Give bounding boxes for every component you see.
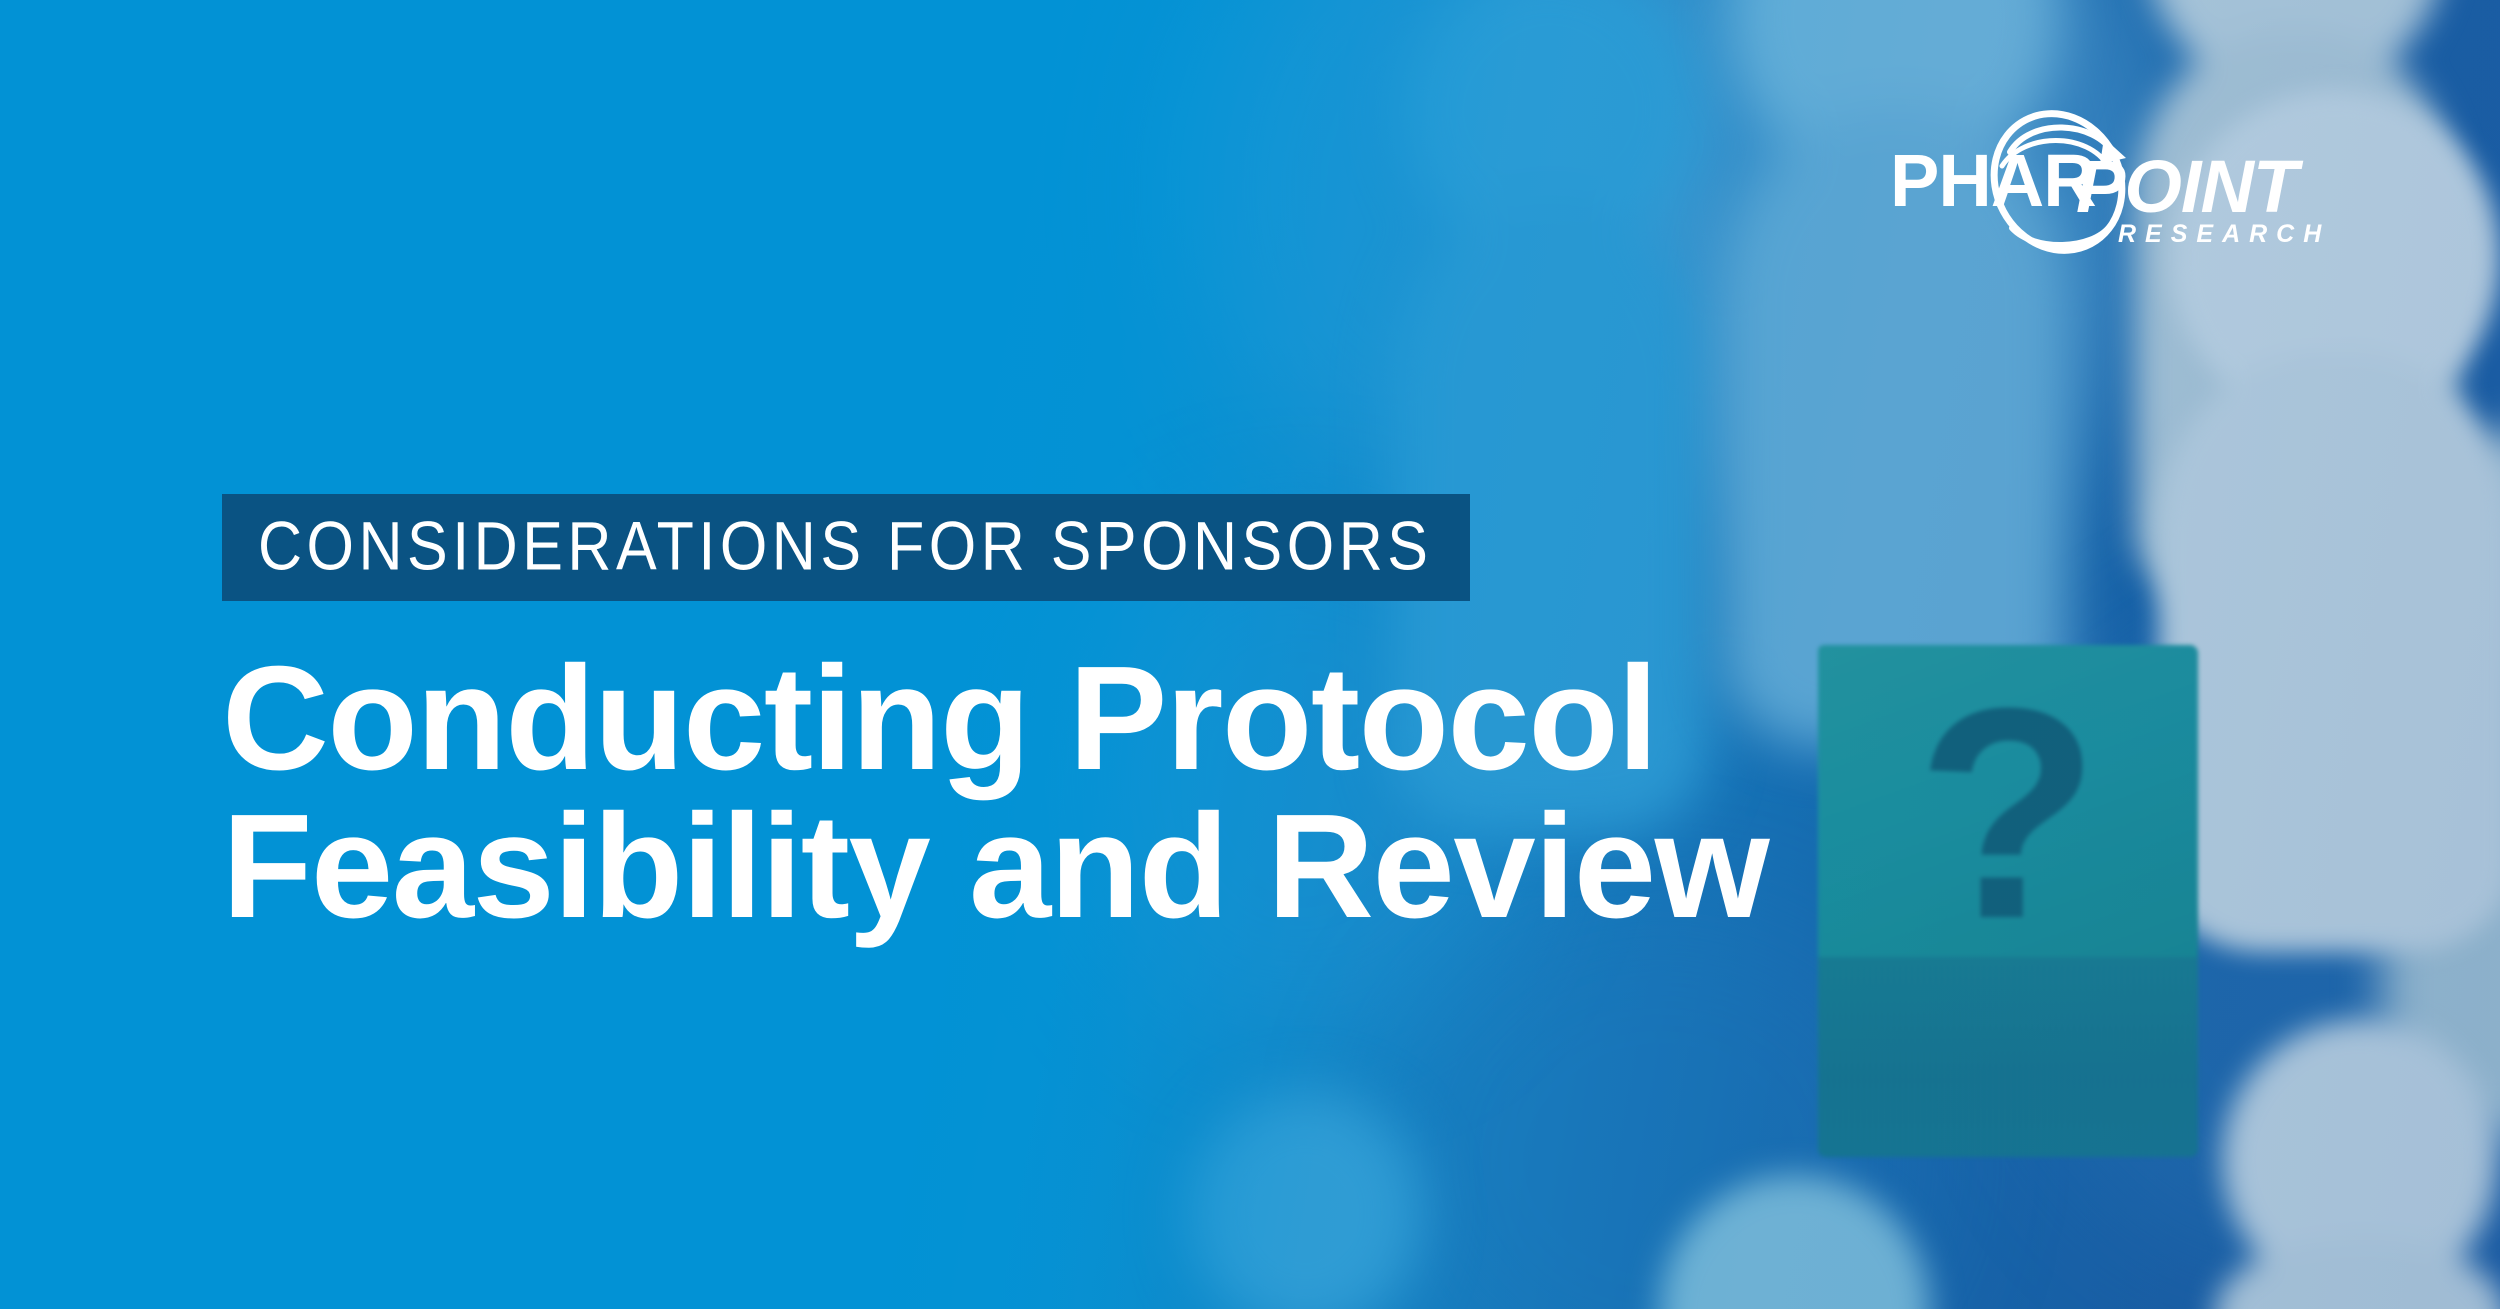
logo-word-primary: PHAR	[1890, 139, 2096, 222]
logo-tagline: RESEARCH	[2118, 220, 2330, 248]
headline-line-1: Conducting Protocol	[222, 645, 1922, 793]
pharpoint-research-logo[interactable]: PHAR POINT RESEARCH	[1880, 110, 2380, 270]
page-title: Conducting Protocol Feasibility and Revi…	[222, 645, 1922, 941]
eyebrow-badge: CONSIDERATIONS FOR SPONSORS	[222, 494, 1470, 601]
logo-word-secondary: POINT	[2076, 145, 2304, 228]
eyebrow-label: CONSIDERATIONS FOR SPONSORS	[258, 512, 1432, 580]
marketing-banner: ? PHAR POINT RESEARCH	[0, 0, 2500, 1309]
banner-copy: CONSIDERATIONS FOR SPONSORS Conducting P…	[222, 494, 1922, 941]
headline-line-2: Feasibility and Review	[222, 793, 1922, 941]
